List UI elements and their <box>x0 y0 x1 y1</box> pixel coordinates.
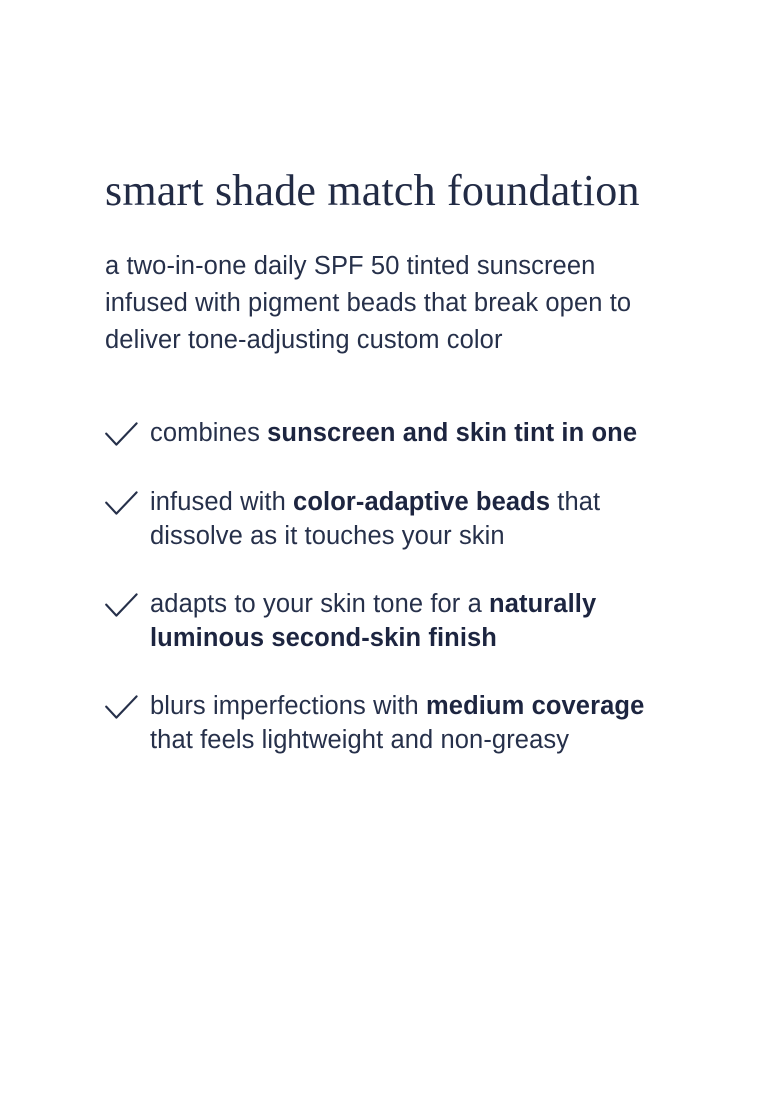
check-icon <box>105 491 138 517</box>
product-description-page: smart shade match foundation a two-in-on… <box>0 0 762 1100</box>
benefit-tail: that feels lightweight and non-greasy <box>150 726 569 754</box>
list-item: adapts to your skin tone for a naturally… <box>105 588 685 655</box>
benefits-list: combines sunscreen and skin tint in one … <box>105 359 685 757</box>
benefit-text: combines sunscreen and skin tint in one <box>150 417 685 451</box>
benefit-highlight: medium coverage <box>426 692 644 720</box>
benefit-lead: infused with <box>150 488 293 516</box>
benefit-lead: blurs imperfections with <box>150 692 426 720</box>
benefit-highlight: color-adaptive beads <box>293 488 550 516</box>
list-item: blurs imperfections with medium coverage… <box>105 690 685 757</box>
list-item: combines sunscreen and skin tint in one <box>105 417 685 451</box>
benefit-text: infused with color-adaptive beads that d… <box>150 486 685 553</box>
check-icon <box>105 422 138 448</box>
check-icon <box>105 593 138 619</box>
content-column: smart shade match foundation a two-in-on… <box>105 168 685 757</box>
product-subtitle: a two-in-one daily SPF 50 tinted sunscre… <box>105 214 665 359</box>
page-title: smart shade match foundation <box>105 168 685 214</box>
list-item: infused with color-adaptive beads that d… <box>105 486 685 553</box>
benefit-text: blurs imperfections with medium coverage… <box>150 690 685 757</box>
benefit-lead: combines <box>150 419 267 447</box>
benefit-lead: adapts to your skin tone for a <box>150 590 489 618</box>
benefit-text: adapts to your skin tone for a naturally… <box>150 588 685 655</box>
benefit-highlight: sunscreen and skin tint in one <box>267 419 637 447</box>
check-icon <box>105 695 138 721</box>
